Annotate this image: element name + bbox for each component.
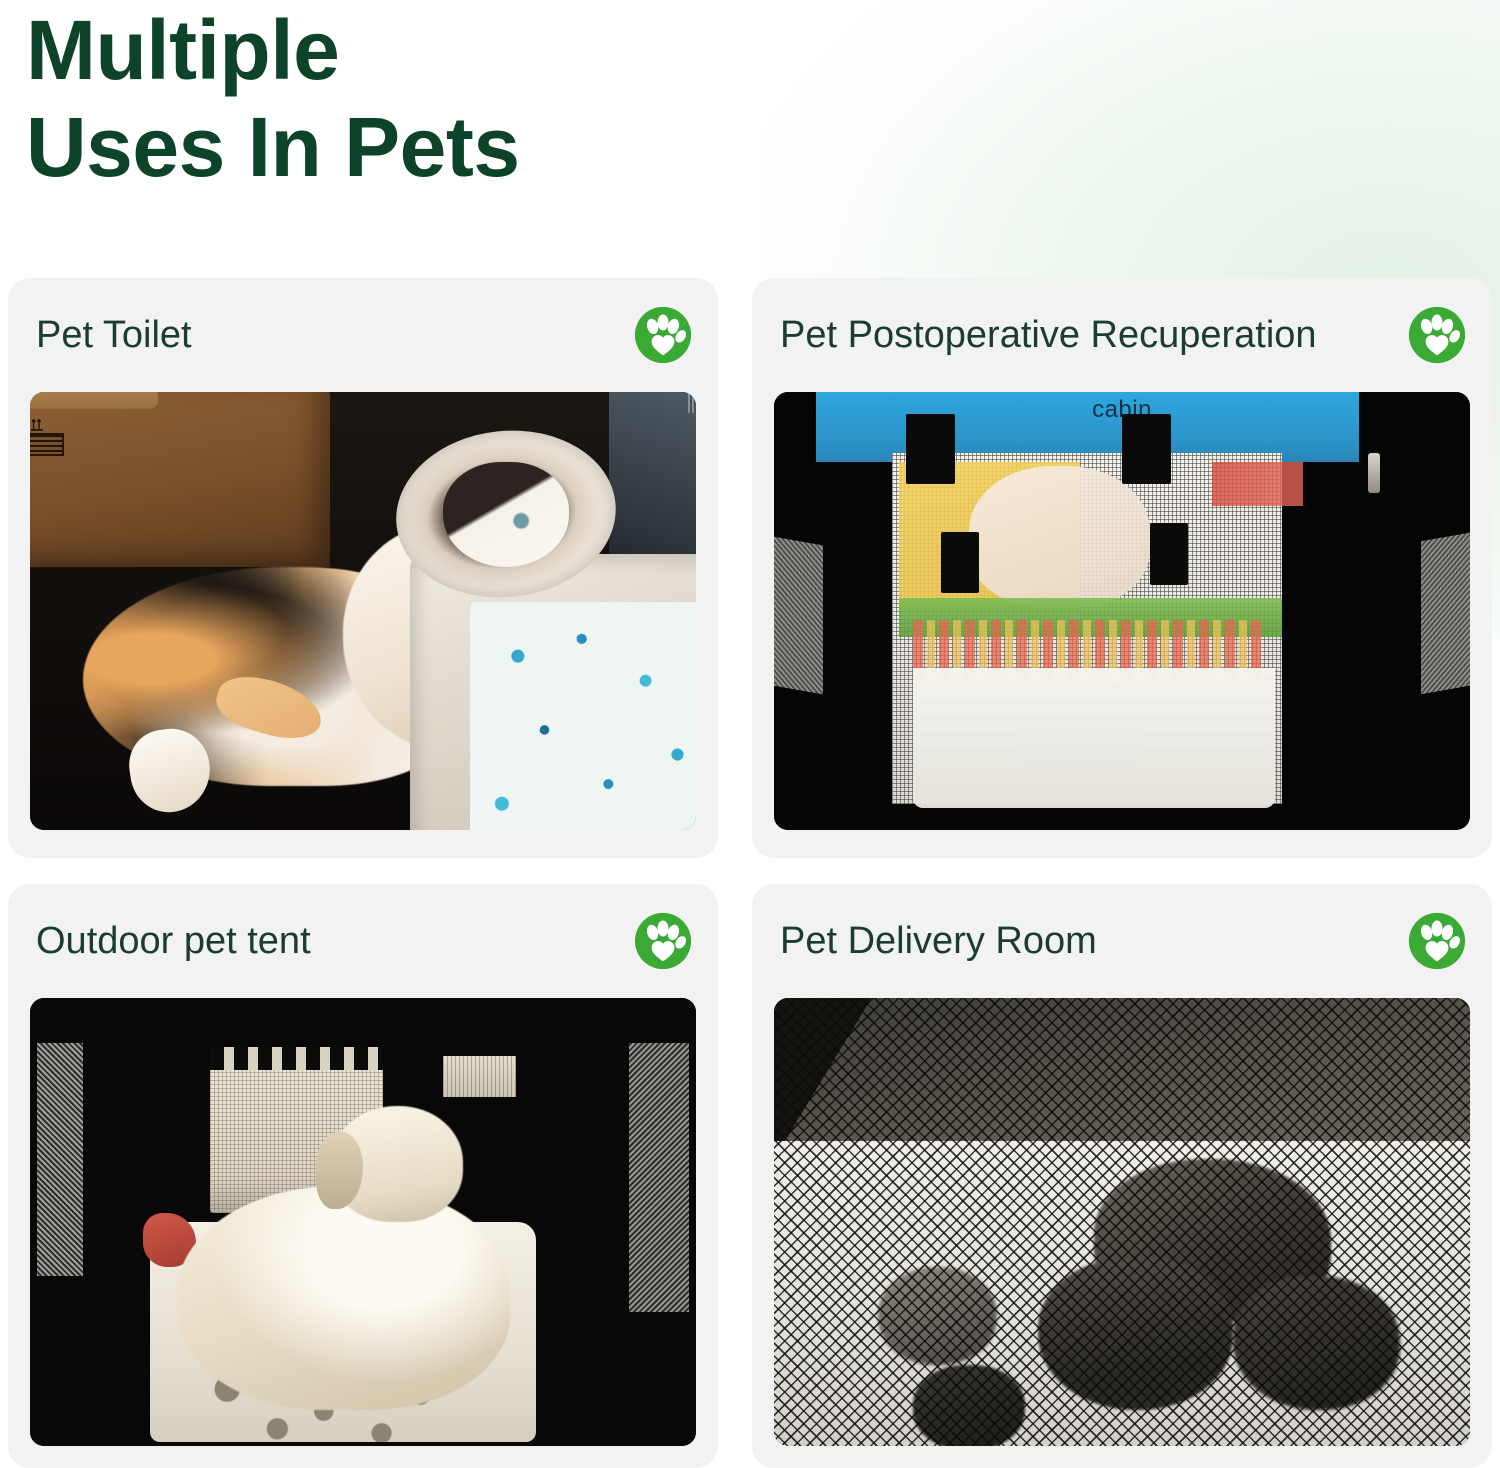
use-case-card-pet-delivery-room: Pet Delivery Room [752,884,1492,1468]
use-case-card-outdoor-pet-tent: Outdoor pet tent [8,884,718,1468]
use-case-card-pet-toilet: Pet Toilet [8,278,718,858]
card-title: Pet Delivery Room [780,922,1097,960]
card-header: Pet Toilet [8,278,718,392]
page-title: Multiple Uses In Pets [26,2,806,197]
use-case-card-pet-postoperative-recuperation: Pet Postoperative Recuperation cabin [752,278,1492,858]
card-photo-pet-postoperative-recuperation: cabin [774,392,1470,830]
card-header: Pet Postoperative Recuperation [752,278,1492,392]
card-title: Pet Postoperative Recuperation [780,316,1317,354]
card-header: Outdoor pet tent [8,884,718,998]
card-photo-pet-toilet [30,392,696,830]
card-header: Pet Delivery Room [752,884,1492,998]
paw-icon [1408,306,1466,364]
paw-icon [1408,912,1466,970]
multiple-uses-in-pets-page: Multiple Uses In Pets Pet Toilet [0,0,1500,1468]
paw-icon [634,912,692,970]
paw-icon [634,306,692,364]
card-photo-pet-delivery-room [774,998,1470,1446]
card-photo-outdoor-pet-tent [30,998,696,1446]
card-title: Pet Toilet [36,316,192,354]
card-title: Outdoor pet tent [36,922,311,960]
